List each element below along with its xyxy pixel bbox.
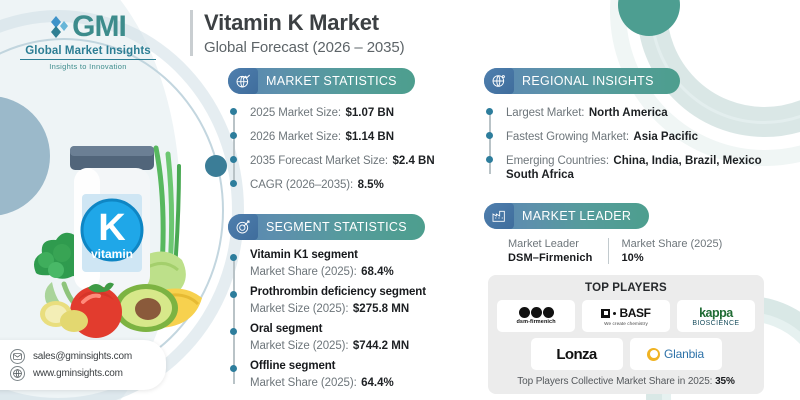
segment-detail: Market Size (2025): $744.2 MN — [250, 336, 470, 354]
list-item: Fastest Growing Market: Asia Pacific — [506, 127, 784, 145]
regional-insights-section: REGIONAL INSIGHTS Largest Market: North … — [484, 68, 784, 181]
stat-label: 2035 Forecast Market Size: — [250, 155, 388, 167]
market-leader-header: MARKET LEADER — [484, 203, 784, 229]
region-label: Largest Market: — [506, 107, 584, 119]
basf-dot-icon — [613, 312, 616, 315]
market-leader-section: MARKET LEADER Market Leader DSM–Firmenic… — [484, 203, 784, 264]
segment-detail: Market Share (2025): 68.4% — [250, 262, 470, 280]
logo-sublabel: BIOSCIENCE — [692, 320, 739, 327]
market-leader-heading: MARKET LEADER — [522, 209, 631, 223]
region-label: Emerging Countries: — [506, 155, 609, 167]
logo-card-basf[interactable]: BASF We create chemistry — [582, 300, 670, 332]
market-leader-body: Market Leader DSM–Firmenich Market Share… — [484, 238, 784, 264]
logo-company-name: Global Market Insights — [8, 45, 168, 57]
stat-value: 8.5% — [358, 179, 384, 191]
avocado-icon — [114, 284, 178, 332]
right-content-column: REGIONAL INSIGHTS Largest Market: North … — [484, 68, 784, 394]
list-item: Emerging Countries: China, India, Brazil… — [506, 151, 784, 181]
list-item: Prothrombin deficiency segment Market Si… — [250, 286, 470, 317]
segment-name: Offline segment — [250, 360, 470, 372]
page-title-block: Vitamin K Market Global Forecast (2026 –… — [190, 10, 405, 56]
segment-statistics-header: SEGMENT STATISTICS — [228, 214, 470, 240]
top-players-footer-label: Top Players Collective Market Share in 2… — [517, 376, 712, 387]
logo-label: kappa — [699, 306, 733, 320]
market-statistics-header: MARKET STATISTICS — [228, 68, 470, 94]
list-item: Vitamin K1 segment Market Share (2025): … — [250, 249, 470, 280]
stat-label: 2026 Market Size: — [250, 131, 341, 143]
regional-insights-heading: REGIONAL INSIGHTS — [522, 74, 654, 88]
segment-value: $275.8 MN — [353, 303, 409, 315]
market-statistics-section: MARKET STATISTICS 2025 Market Size: $1.0… — [228, 68, 470, 193]
market-share-label: Market Share (2025) — [621, 238, 722, 250]
vitamin-bottle: K vitamin — [70, 146, 154, 290]
factory-icon — [484, 203, 514, 229]
page-subtitle: Global Forecast (2026 – 2035) — [204, 39, 405, 56]
region-label: Fastest Growing Market: — [506, 131, 629, 143]
contact-website: www.gminsights.com — [33, 368, 123, 379]
market-statistics-list: 2025 Market Size: $1.07 BN 2026 Market S… — [228, 103, 470, 193]
glanbia-circle-icon — [647, 348, 660, 361]
segment-detail: Market Share (2025): 64.4% — [250, 373, 470, 391]
market-leader-name-cell: Market Leader DSM–Firmenich — [508, 238, 608, 264]
contact-email-row[interactable]: sales@gminsights.com — [10, 349, 146, 364]
list-item: 2035 Forecast Market Size: $2.4 BN — [250, 151, 470, 169]
region-value: Asia Pacific — [633, 131, 698, 143]
contact-website-row[interactable]: www.gminsights.com — [10, 366, 146, 381]
region-value: China, India, Brazil, Mexico — [613, 155, 761, 167]
globe-chart-icon — [228, 68, 258, 94]
dsm-dots-icon — [519, 307, 554, 318]
logo-mark-row: GMI — [8, 10, 168, 44]
vitamin-bottle-illustration: K vitamin — [28, 118, 228, 348]
stat-label: CAGR (2026–2035): — [250, 179, 353, 191]
segment-label: Market Share (2025): — [250, 377, 357, 389]
logo-label: dsm-firmenich — [516, 319, 555, 325]
segment-detail: Market Size (2025): $275.8 MN — [250, 299, 470, 317]
regional-insights-header: REGIONAL INSIGHTS — [484, 68, 784, 94]
bottle-letter: K — [98, 207, 126, 249]
logo-card-lonza[interactable]: Lonza — [531, 338, 623, 370]
left-content-column: MARKET STATISTICS 2025 Market Size: $1.0… — [228, 68, 470, 397]
stat-label: 2025 Market Size: — [250, 107, 341, 119]
segment-name: Prothrombin deficiency segment — [250, 286, 470, 298]
list-item: Oral segment Market Size (2025): $744.2 … — [250, 323, 470, 354]
globe-icon — [484, 68, 514, 94]
segment-value: 68.4% — [361, 266, 394, 278]
list-item: 2025 Market Size: $1.07 BN — [250, 103, 470, 121]
logo-sublabel: We create chemistry — [604, 321, 648, 326]
bottle-word: vitamin — [91, 247, 133, 261]
segment-statistics-list: Vitamin K1 segment Market Share (2025): … — [228, 249, 470, 391]
stat-value: $1.07 BN — [345, 107, 394, 119]
segment-value: 64.4% — [361, 377, 394, 389]
infographic-canvas: GMI Global Market Insights Insights to I… — [0, 0, 800, 400]
contact-footer: sales@gminsights.com www.gminsights.com — [0, 340, 166, 390]
stat-value: $2.4 BN — [392, 155, 434, 167]
basf-square-icon — [601, 309, 610, 318]
region-value: North America — [589, 107, 668, 119]
segment-statistics-section: SEGMENT STATISTICS Vitamin K1 segment Ma… — [228, 214, 470, 391]
segment-value: $744.2 MN — [353, 340, 409, 352]
stat-value: $1.14 BN — [345, 131, 394, 143]
logo-tagline: Insights to Innovation — [8, 62, 168, 71]
top-players-row-1: dsm-firmenich BASF We create chemistry k… — [497, 300, 755, 332]
region-value-line2: South Africa — [506, 169, 784, 181]
segment-label: Market Size (2025): — [250, 340, 348, 352]
market-leader-value: DSM–Firmenich — [508, 252, 592, 264]
top-players-title: TOP PLAYERS — [497, 282, 755, 294]
contact-email: sales@gminsights.com — [33, 351, 132, 362]
brand-logo: GMI Global Market Insights Insights to I… — [8, 10, 168, 71]
list-item: 2026 Market Size: $1.14 BN — [250, 127, 470, 145]
basf-mark: BASF — [601, 306, 650, 320]
market-leader-label: Market Leader — [508, 238, 592, 250]
market-share-value: 10% — [621, 252, 722, 264]
market-statistics-heading: MARKET STATISTICS — [266, 74, 397, 88]
logo-card-kappa-bioscience[interactable]: kappa BIOSCIENCE — [677, 300, 755, 332]
glanbia-mark-row: Glanbia — [647, 347, 704, 361]
top-players-row-2: Lonza Glanbia — [497, 338, 755, 370]
page-title: Vitamin K Market — [204, 10, 405, 36]
logo-divider — [20, 59, 156, 60]
logo-gmi-text: GMI — [72, 10, 126, 44]
list-item: CAGR (2026–2035): 8.5% — [250, 175, 470, 193]
diamond-logo-icon — [50, 14, 70, 40]
list-item: Offline segment Market Share (2025): 64.… — [250, 360, 470, 391]
segment-name: Oral segment — [250, 323, 470, 335]
segment-label: Market Size (2025): — [250, 303, 348, 315]
envelope-icon — [10, 349, 25, 364]
logo-label: BASF — [619, 306, 650, 320]
regional-insights-list: Largest Market: North America Fastest Gr… — [484, 103, 784, 181]
logo-card-glanbia[interactable]: Glanbia — [630, 338, 722, 370]
top-players-footer: Top Players Collective Market Share in 2… — [497, 376, 755, 387]
logo-label: Glanbia — [664, 347, 704, 361]
segment-statistics-heading: SEGMENT STATISTICS — [266, 220, 407, 234]
market-leader-share-cell: Market Share (2025) 10% — [608, 238, 738, 264]
logo-card-dsm-firmenich[interactable]: dsm-firmenich — [497, 300, 575, 332]
globe-icon — [10, 366, 25, 381]
target-dart-icon — [228, 214, 258, 240]
segment-name: Vitamin K1 segment — [250, 249, 470, 261]
teal-circle-accent — [618, 0, 680, 36]
segment-label: Market Share (2025): — [250, 266, 357, 278]
top-players-footer-value: 35% — [715, 376, 735, 387]
top-players-panel: TOP PLAYERS dsm-firmenich BASF We create… — [488, 275, 764, 394]
list-item: Largest Market: North America — [506, 103, 784, 121]
logo-label: Lonza — [556, 346, 596, 363]
